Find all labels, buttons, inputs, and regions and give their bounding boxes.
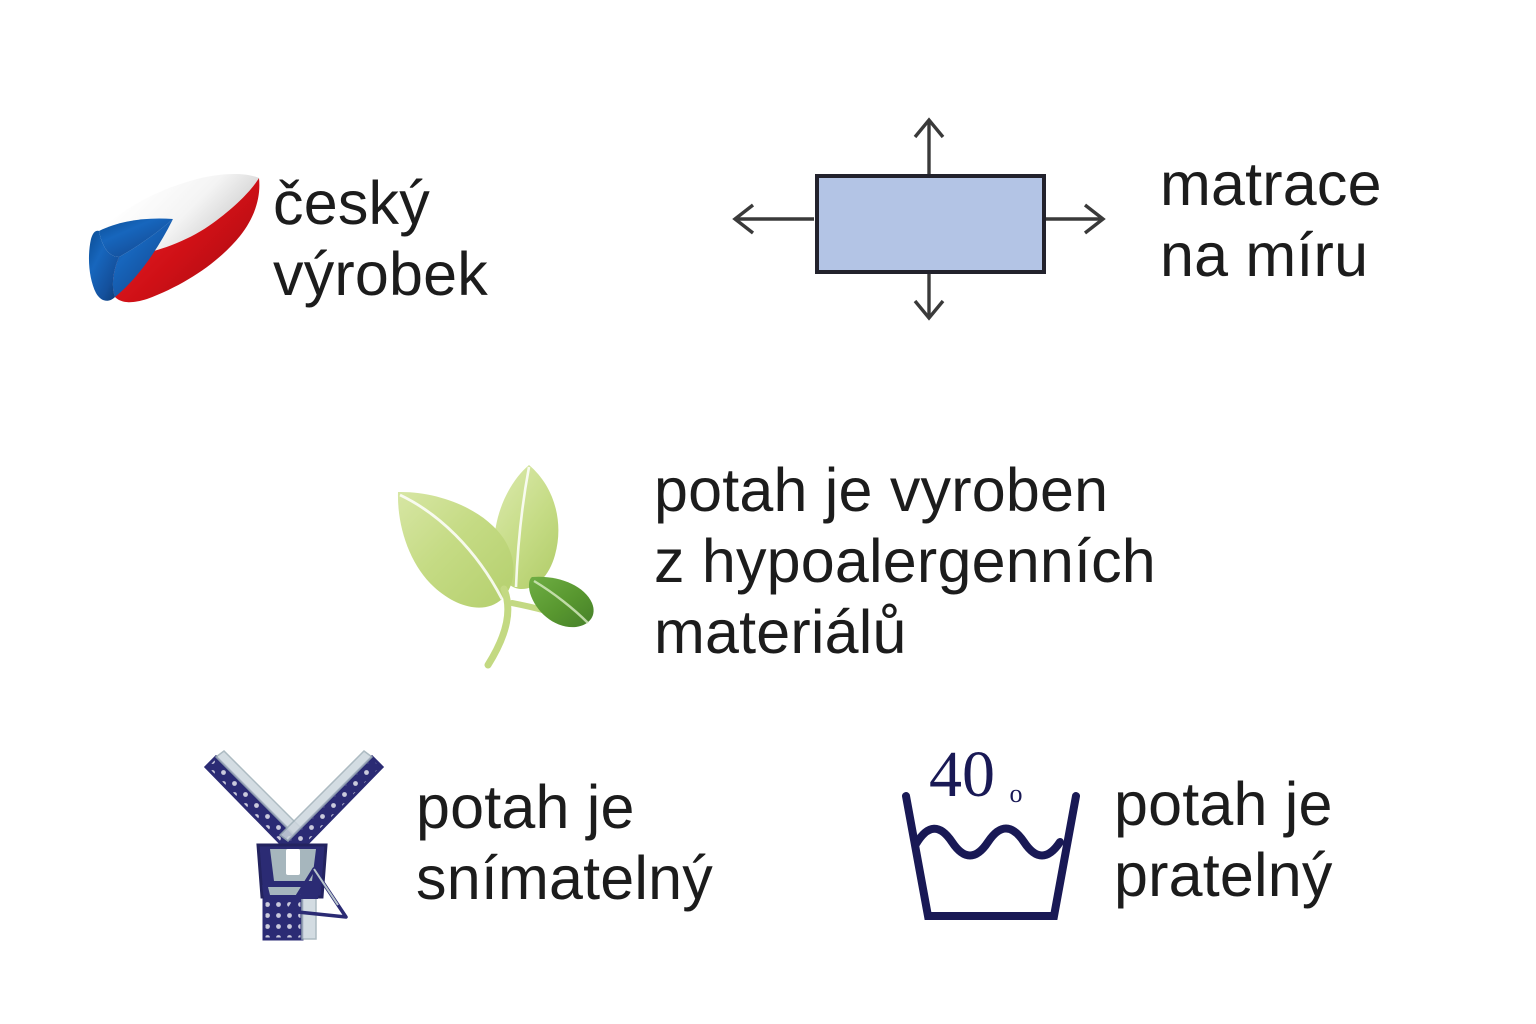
feature-custom-size: matrace na míru (722, 105, 1382, 333)
feature-czech-label: český výrobek (273, 168, 488, 310)
wash-temperature-value: 40 (929, 738, 995, 811)
wash-40-icon: 40 o (898, 750, 1094, 930)
feature-washable-label: potah je pratelný (1114, 769, 1333, 911)
feature-hypoallergenic: potah je vyroben z hypoalergenních mater… (392, 455, 1156, 673)
leaf-icon (392, 457, 642, 672)
wash-degree-mark: o (1010, 779, 1023, 808)
feature-removable-label: potah je snímatelný (416, 772, 713, 914)
czech-flag-icon (85, 169, 261, 309)
feature-custom-label: matrace na míru (1160, 149, 1382, 291)
feature-hypo-label: potah je vyroben z hypoalergenních mater… (654, 455, 1156, 667)
zipper-icon (196, 745, 392, 940)
feature-washable-cover: 40 o potah je pratelný (898, 750, 1333, 930)
feature-czech-product: český výrobek (85, 168, 488, 310)
feature-removable-cover: potah je snímatelný (196, 745, 713, 940)
mattress-resize-icon (722, 105, 1116, 333)
